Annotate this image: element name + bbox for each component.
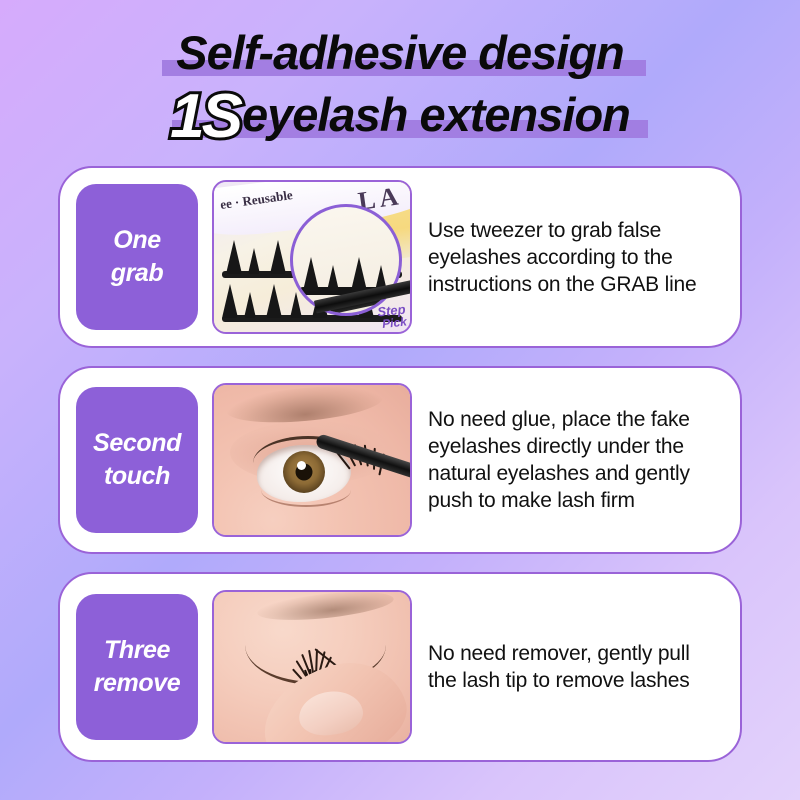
headline-badge-1s: 1S	[170, 86, 240, 148]
step-description: No need glue, place the fake eyelashes d…	[428, 406, 724, 514]
step-image-open-eye	[212, 383, 412, 537]
step-label-line-2: touch	[104, 460, 170, 493]
step-label-line-2: remove	[94, 667, 181, 700]
promo-poster: Self-adhesive design 1Seyelash extension…	[0, 0, 800, 800]
step-label-line-2: grab	[111, 257, 164, 290]
poster-header: Self-adhesive design 1Seyelash extension	[0, 22, 800, 152]
step-image-closed-eye	[212, 590, 412, 744]
title-line-1: Self-adhesive design	[0, 22, 800, 84]
step-card-one-grab: One grab ee · Reusable LA	[58, 166, 742, 348]
step-label-badge: Three remove	[76, 594, 198, 740]
steps-card-list: One grab ee · Reusable LA	[58, 166, 742, 780]
step-label-line-1: Three	[104, 634, 170, 667]
step-label-line-1: Second	[93, 427, 181, 460]
title-line-2: 1Seyelash extension	[0, 84, 800, 146]
step-image-lash-tray: ee · Reusable LA	[212, 180, 412, 334]
headline-primary: Self-adhesive design	[176, 26, 624, 79]
step-card-second-touch: Second touch	[58, 366, 742, 554]
step-description: Use tweezer to grab false eyelashes acco…	[428, 217, 724, 298]
step-description: No need remover, gently pull the lash ti…	[428, 640, 724, 694]
step-label-badge: Second touch	[76, 387, 198, 533]
packaging-step-pick-tag: Step Pick	[377, 303, 408, 332]
step-label-line-1: One	[113, 224, 160, 257]
headline-secondary-wrap: 1Seyelash extension	[170, 84, 630, 158]
step-label-badge: One grab	[76, 184, 198, 330]
fingernail	[296, 688, 365, 739]
headline-secondary: eyelash extension	[242, 84, 630, 146]
step-tag-line-2: Pick	[381, 315, 407, 332]
step-card-three-remove: Three remove	[58, 572, 742, 762]
